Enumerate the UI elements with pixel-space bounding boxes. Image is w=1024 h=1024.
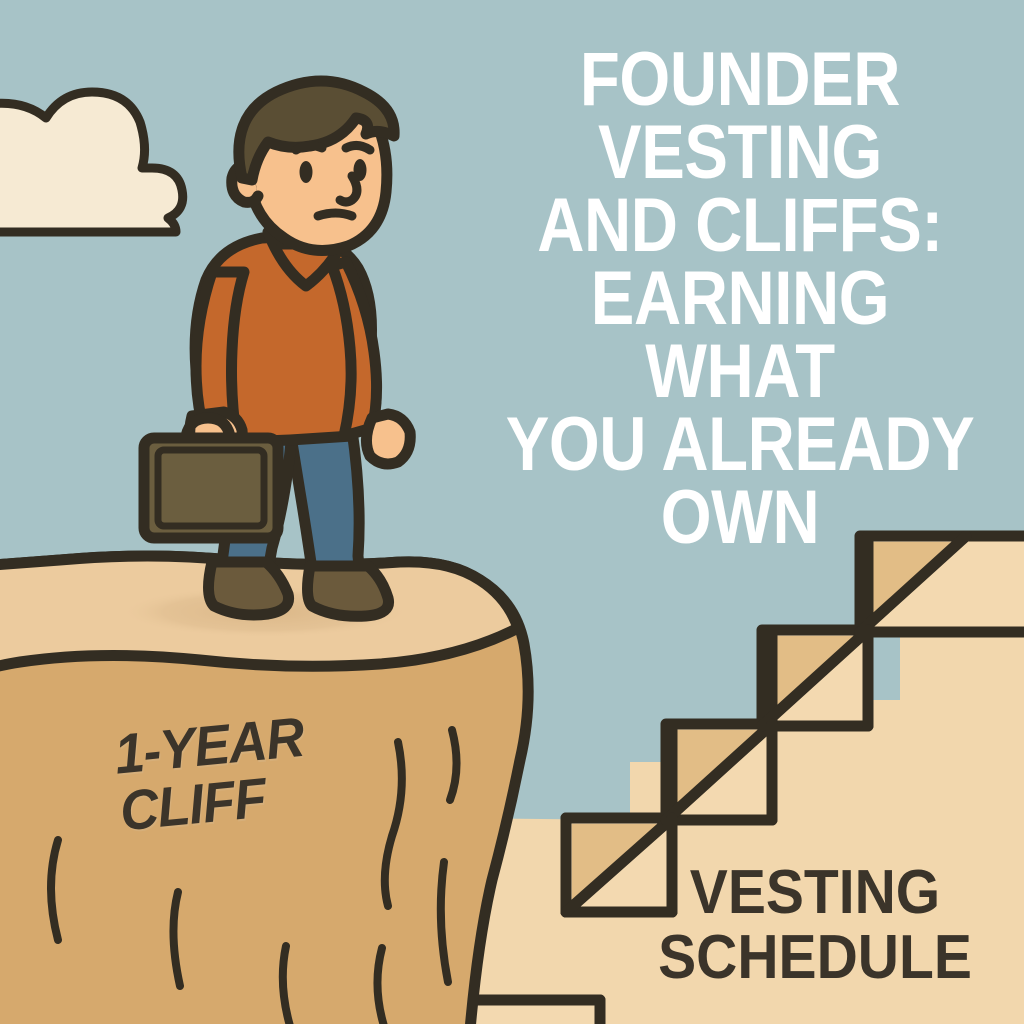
vesting-schedule-label: Vesting Schedule — [626, 860, 1003, 990]
poster-canvas: Founder Vesting and Cliffs: Earning What… — [0, 0, 1024, 1024]
